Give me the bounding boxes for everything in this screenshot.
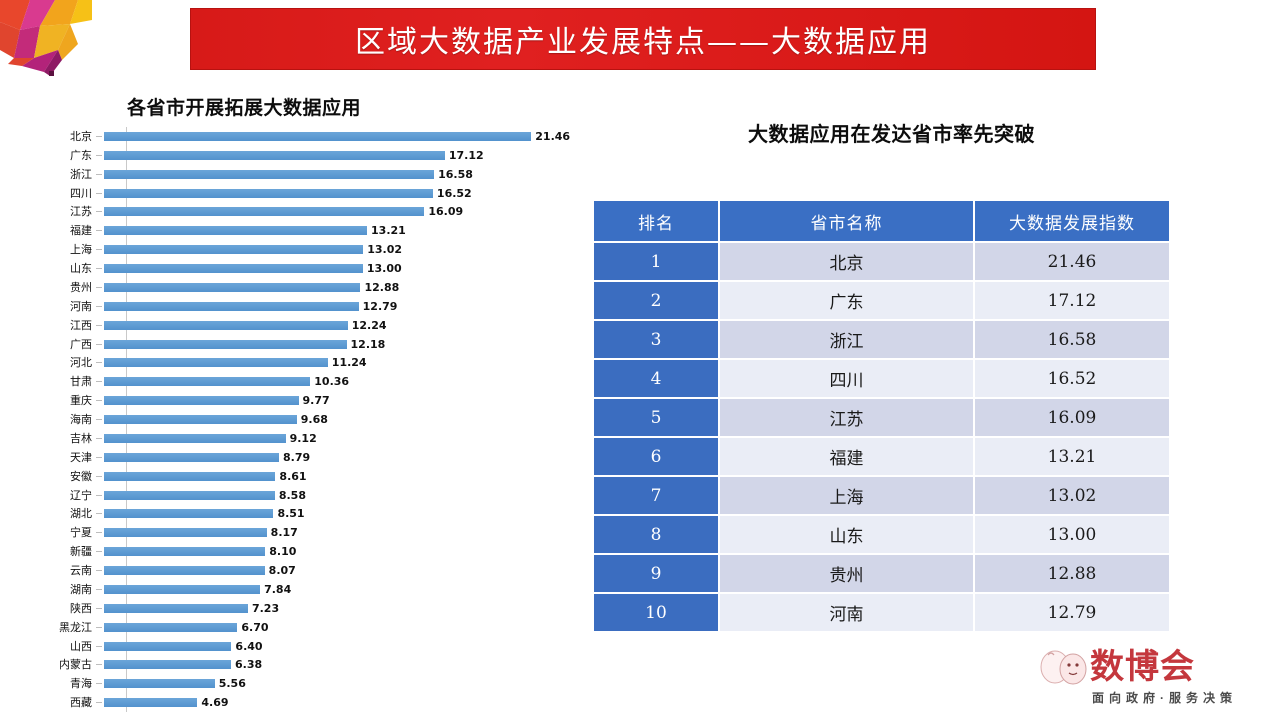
table-body: 1北京21.462广东17.123浙江16.584四川16.525江苏16.09… (594, 243, 1169, 631)
cell-province-name: 广东 (720, 282, 973, 319)
bar (104, 547, 265, 556)
bar-value-label: 16.58 (438, 168, 473, 181)
watermark-logo: 数博会 面向政府·服务决策 (1034, 646, 1266, 712)
bar-value-label: 13.02 (367, 243, 402, 256)
bar-row: 海南9.68 (36, 410, 596, 429)
bar-row: 天津8.79 (36, 448, 596, 467)
table-row: 10河南12.79 (594, 594, 1169, 631)
bar-value-label: 16.09 (428, 205, 463, 218)
bar-track: 21.46 (102, 127, 596, 146)
cell-province-name: 山东 (720, 516, 973, 553)
bar-value-label: 8.79 (283, 451, 310, 464)
bar (104, 189, 433, 198)
bar-category-label: 新疆 (36, 546, 96, 557)
bar-value-label: 9.77 (303, 394, 330, 407)
bar-row: 甘肃10.36 (36, 372, 596, 391)
bar-row: 四川16.52 (36, 184, 596, 203)
bar-row: 贵州12.88 (36, 278, 596, 297)
bar (104, 321, 348, 330)
table-row: 3浙江16.58 (594, 321, 1169, 358)
bar-track: 9.68 (102, 410, 596, 429)
bar-category-label: 甘肃 (36, 376, 96, 387)
bar-category-label: 山西 (36, 641, 96, 652)
bar (104, 283, 360, 292)
bar-value-label: 8.51 (277, 507, 304, 520)
cell-province-name: 河南 (720, 594, 973, 631)
cell-index-value: 17.12 (975, 282, 1169, 319)
bar-value-label: 9.12 (290, 432, 317, 445)
bar-value-label: 7.23 (252, 602, 279, 615)
table-row: 9贵州12.88 (594, 555, 1169, 592)
bar-track: 8.79 (102, 448, 596, 467)
bar-track: 9.12 (102, 429, 596, 448)
cell-index-value: 16.52 (975, 360, 1169, 397)
bar-value-label: 16.52 (437, 187, 472, 200)
watermark-tagline: 面向政府·服务决策 (1092, 689, 1237, 706)
bar-track: 13.02 (102, 240, 596, 259)
bar (104, 679, 215, 688)
bar-category-label: 山东 (36, 263, 96, 274)
bar-category-label: 广东 (36, 150, 96, 161)
cell-province-name: 四川 (720, 360, 973, 397)
bar-track: 8.10 (102, 542, 596, 561)
table-row: 4四川16.52 (594, 360, 1169, 397)
bar (104, 698, 197, 707)
bar-category-label: 江西 (36, 320, 96, 331)
bar (104, 642, 231, 651)
bar (104, 151, 445, 160)
bar-row: 湖北8.51 (36, 505, 596, 524)
ranking-table: 排名 省市名称 大数据发展指数 1北京21.462广东17.123浙江16.58… (592, 199, 1171, 633)
bar-value-label: 4.69 (201, 696, 228, 709)
bar-value-label: 9.68 (301, 413, 328, 426)
bar-value-label: 12.88 (364, 281, 399, 294)
cell-province-name: 上海 (720, 477, 973, 514)
bar (104, 132, 531, 141)
watermark-brand: 数博会 (1090, 648, 1195, 686)
bar-row: 安徽8.61 (36, 467, 596, 486)
cell-rank: 4 (594, 360, 718, 397)
bar-row: 广西12.18 (36, 335, 596, 354)
bar-value-label: 12.79 (363, 300, 398, 313)
cell-province-name: 浙江 (720, 321, 973, 358)
cell-index-value: 12.88 (975, 555, 1169, 592)
bar (104, 302, 359, 311)
bar-row: 内蒙古6.38 (36, 656, 596, 675)
cell-rank: 6 (594, 438, 718, 475)
cell-rank: 3 (594, 321, 718, 358)
bar (104, 585, 260, 594)
cell-rank: 5 (594, 399, 718, 436)
bar-row: 宁夏8.17 (36, 523, 596, 542)
bar (104, 245, 363, 254)
bar (104, 660, 231, 669)
bar (104, 377, 310, 386)
slide-title-banner: 区域大数据产业发展特点——大数据应用 (190, 8, 1096, 70)
bar-value-label: 6.38 (235, 658, 262, 671)
cell-rank: 1 (594, 243, 718, 280)
polygon-logo-icon (0, 0, 92, 80)
bar-category-label: 吉林 (36, 433, 96, 444)
bar (104, 415, 297, 424)
bar-row: 吉林9.12 (36, 429, 596, 448)
bar-category-label: 西藏 (36, 697, 96, 708)
bar-track: 8.07 (102, 561, 596, 580)
column-header-name: 省市名称 (720, 201, 973, 241)
bar-category-label: 辽宁 (36, 490, 96, 501)
bar (104, 509, 273, 518)
cell-rank: 8 (594, 516, 718, 553)
bar-row: 江苏16.09 (36, 203, 596, 222)
bar-value-label: 17.12 (449, 149, 484, 162)
bar-row: 黑龙江6.70 (36, 618, 596, 637)
bar-track: 17.12 (102, 146, 596, 165)
bar-track: 8.51 (102, 505, 596, 524)
bar (104, 453, 279, 462)
bar (104, 491, 275, 500)
table-title: 大数据应用在发达省市率先突破 (748, 118, 1035, 147)
cell-index-value: 16.58 (975, 321, 1169, 358)
bar-value-label: 12.24 (352, 319, 387, 332)
bar-row: 河北11.24 (36, 354, 596, 373)
cell-rank: 9 (594, 555, 718, 592)
cell-province-name: 贵州 (720, 555, 973, 592)
bar (104, 528, 267, 537)
cell-index-value: 13.02 (975, 477, 1169, 514)
bar-track: 8.17 (102, 523, 596, 542)
table-row: 5江苏16.09 (594, 399, 1169, 436)
bar-category-label: 湖南 (36, 584, 96, 595)
bar-row: 江西12.24 (36, 316, 596, 335)
bar-row: 湖南7.84 (36, 580, 596, 599)
bar-rows-container: 北京21.46广东17.12浙江16.58四川16.52江苏16.09福建13.… (36, 127, 596, 712)
bar-category-label: 青海 (36, 678, 96, 689)
column-header-rank: 排名 (594, 201, 718, 241)
cell-rank: 2 (594, 282, 718, 319)
cell-index-value: 12.79 (975, 594, 1169, 631)
bar-value-label: 10.36 (314, 375, 349, 388)
bar-value-label: 8.10 (269, 545, 296, 558)
bar-category-label: 安徽 (36, 471, 96, 482)
bar-value-label: 8.58 (279, 489, 306, 502)
bar-category-label: 贵州 (36, 282, 96, 293)
bar-row: 西藏4.69 (36, 693, 596, 712)
bar-track: 12.18 (102, 335, 596, 354)
bar-category-label: 北京 (36, 131, 96, 142)
bar-value-label: 8.17 (271, 526, 298, 539)
bar-category-label: 天津 (36, 452, 96, 463)
bar-row: 辽宁8.58 (36, 486, 596, 505)
bar-track: 16.09 (102, 203, 596, 222)
table-row: 7上海13.02 (594, 477, 1169, 514)
table-row: 2广东17.12 (594, 282, 1169, 319)
bar-category-label: 福建 (36, 225, 96, 236)
bar-value-label: 5.56 (219, 677, 246, 690)
bar-category-label: 内蒙古 (36, 659, 96, 670)
bar-track: 6.70 (102, 618, 596, 637)
bar-row: 河南12.79 (36, 297, 596, 316)
bar-category-label: 河南 (36, 301, 96, 312)
bar-track: 7.23 (102, 599, 596, 618)
bar-track: 13.21 (102, 221, 596, 240)
cell-index-value: 21.46 (975, 243, 1169, 280)
bar-row: 青海5.56 (36, 674, 596, 693)
bar-category-label: 广西 (36, 339, 96, 350)
bar-row: 云南8.07 (36, 561, 596, 580)
table-row: 1北京21.46 (594, 243, 1169, 280)
bar-row: 山西6.40 (36, 637, 596, 656)
bar-track: 5.56 (102, 674, 596, 693)
bar-track: 6.38 (102, 656, 596, 675)
bar-value-label: 6.70 (241, 621, 268, 634)
bar-category-label: 河北 (36, 357, 96, 368)
cell-rank: 10 (594, 594, 718, 631)
bar-track: 6.40 (102, 637, 596, 656)
table-row: 6福建13.21 (594, 438, 1169, 475)
cell-index-value: 13.00 (975, 516, 1169, 553)
bar (104, 226, 367, 235)
bar-value-label: 8.61 (279, 470, 306, 483)
bar (104, 358, 328, 367)
bar-value-label: 7.84 (264, 583, 291, 596)
bar (104, 472, 275, 481)
bar (104, 604, 248, 613)
column-header-index: 大数据发展指数 (975, 201, 1169, 241)
bar-category-label: 浙江 (36, 169, 96, 180)
bar-value-label: 13.21 (371, 224, 406, 237)
bar-category-label: 江苏 (36, 206, 96, 217)
bar-row: 陕西7.23 (36, 599, 596, 618)
bar-track: 4.69 (102, 693, 596, 712)
bar-value-label: 21.46 (535, 130, 570, 143)
bar-row: 福建13.21 (36, 221, 596, 240)
bar-track: 7.84 (102, 580, 596, 599)
bar-category-label: 湖北 (36, 508, 96, 519)
bar (104, 566, 265, 575)
bar-row: 山东13.00 (36, 259, 596, 278)
bar-value-label: 13.00 (367, 262, 402, 275)
bar-track: 11.24 (102, 354, 596, 373)
bar-value-label: 6.40 (235, 640, 262, 653)
bar-row: 北京21.46 (36, 127, 596, 146)
bar-track: 8.61 (102, 467, 596, 486)
cell-index-value: 16.09 (975, 399, 1169, 436)
bar-track: 12.24 (102, 316, 596, 335)
mascot-faces-icon (1038, 650, 1090, 686)
bar (104, 207, 424, 216)
bar (104, 434, 286, 443)
cell-index-value: 13.21 (975, 438, 1169, 475)
cell-province-name: 福建 (720, 438, 973, 475)
bar-track: 10.36 (102, 372, 596, 391)
chart-title: 各省市开展拓展大数据应用 (127, 93, 361, 120)
bar-category-label: 宁夏 (36, 527, 96, 538)
bar-row: 浙江16.58 (36, 165, 596, 184)
bar-category-label: 云南 (36, 565, 96, 576)
bar-category-label: 陕西 (36, 603, 96, 614)
bar-track: 9.77 (102, 391, 596, 410)
bar (104, 396, 299, 405)
bar-category-label: 上海 (36, 244, 96, 255)
bar (104, 340, 347, 349)
bar-chart: 北京21.46广东17.12浙江16.58四川16.52江苏16.09福建13.… (36, 127, 596, 712)
bar (104, 264, 363, 273)
bar-row: 上海13.02 (36, 240, 596, 259)
cell-province-name: 江苏 (720, 399, 973, 436)
bar-row: 广东17.12 (36, 146, 596, 165)
bar (104, 170, 434, 179)
bar-category-label: 海南 (36, 414, 96, 425)
bar-category-label: 四川 (36, 188, 96, 199)
table-header-row: 排名 省市名称 大数据发展指数 (594, 201, 1169, 241)
bar-category-label: 重庆 (36, 395, 96, 406)
bar-track: 8.58 (102, 486, 596, 505)
bar-track: 16.52 (102, 184, 596, 203)
bar (104, 623, 237, 632)
bar-value-label: 8.07 (269, 564, 296, 577)
bar-category-label: 黑龙江 (36, 622, 96, 633)
bar-value-label: 11.24 (332, 356, 367, 369)
bar-track: 12.88 (102, 278, 596, 297)
page-title: 区域大数据产业发展特点——大数据应用 (355, 17, 931, 61)
cell-province-name: 北京 (720, 243, 973, 280)
brand-polygon-logo (0, 0, 92, 80)
cell-rank: 7 (594, 477, 718, 514)
bar-row: 新疆8.10 (36, 542, 596, 561)
bar-track: 16.58 (102, 165, 596, 184)
bar-value-label: 12.18 (351, 338, 386, 351)
table-row: 8山东13.00 (594, 516, 1169, 553)
bar-row: 重庆9.77 (36, 391, 596, 410)
bar-track: 13.00 (102, 259, 596, 278)
bar-track: 12.79 (102, 297, 596, 316)
